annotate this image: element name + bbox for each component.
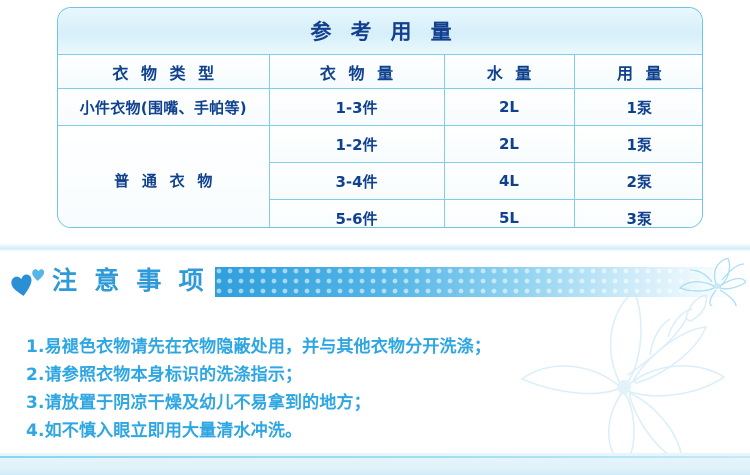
table-row: 小件衣物(围嘴、手帕等) 1-3件 2L 1泵 [58, 89, 703, 126]
cell-clothing-type-merged: 普 通 衣 物 [58, 126, 269, 229]
list-item: 1.易褪色衣物请先在衣物隐蔽处用，并与其他衣物分开洗涤； [26, 333, 646, 361]
column-header-amount: 衣 物 量 [269, 55, 444, 89]
double-heart-icon [11, 266, 47, 298]
column-header-water: 水 量 [444, 55, 574, 89]
notice-list: 1.易褪色衣物请先在衣物隐蔽处用，并与其他衣物分开洗涤； 2.请参照衣物本身标识… [26, 333, 646, 445]
cell-water-amount: 2L [444, 89, 574, 126]
reference-usage-table: 参 考 用 量 衣 物 类 型 衣 物 量 水 量 用 量 小件衣物(围嘴、手帕… [57, 7, 703, 228]
notice-header: 注 意 事 项 [0, 262, 750, 304]
cell-clothing-amount: 3-4件 [269, 163, 444, 200]
cell-clothing-type: 小件衣物(围嘴、手帕等) [58, 89, 269, 126]
cell-dose: 1泵 [574, 89, 703, 126]
lily-flower-icon [676, 258, 746, 306]
cell-water-amount: 2L [444, 126, 574, 163]
cell-clothing-amount: 5-6件 [269, 200, 444, 229]
cell-dose: 1泵 [574, 126, 703, 163]
cell-water-amount: 4L [444, 163, 574, 200]
table-row: 普 通 衣 物 1-2件 2L 1泵 [58, 126, 703, 163]
list-item: 3.请放置于阴凉干燥及幼儿不易拿到的地方； [26, 389, 646, 417]
cell-dose: 2泵 [574, 163, 703, 200]
list-item: 2.请参照衣物本身标识的洗涤指示； [26, 361, 646, 389]
list-item: 4.如不慎入眼立即用大量清水冲洗。 [26, 417, 646, 445]
column-header-dose: 用 量 [574, 55, 703, 89]
cell-water-amount: 5L [444, 200, 574, 229]
table-title: 参 考 用 量 [58, 8, 703, 55]
cell-clothing-amount: 1-2件 [269, 126, 444, 163]
bottom-rule [0, 456, 750, 458]
notice-heading: 注 意 事 项 [52, 262, 208, 300]
column-header-type: 衣 物 类 型 [58, 55, 269, 89]
notice-decor-bar [215, 267, 735, 297]
cell-clothing-amount: 1-3件 [269, 89, 444, 126]
page-root: 参 考 用 量 衣 物 类 型 衣 物 量 水 量 用 量 小件衣物(围嘴、手帕… [0, 0, 750, 475]
cell-dose: 3泵 [574, 200, 703, 229]
table-header-row: 衣 物 类 型 衣 物 量 水 量 用 量 [58, 55, 703, 89]
section-separator [0, 243, 750, 251]
